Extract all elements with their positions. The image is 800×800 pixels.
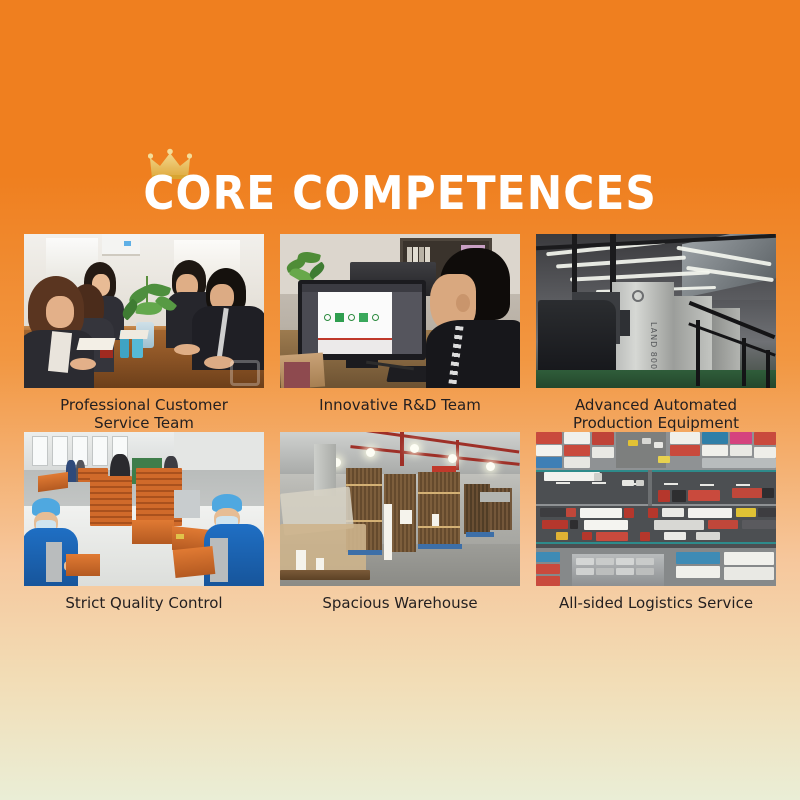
- card-caption: All-sided Logistics Service: [536, 586, 776, 630]
- caption-line-1: Strict Quality Control: [65, 594, 222, 612]
- watermark-icon: [230, 360, 260, 386]
- competence-card-spacious-warehouse[interactable]: Spacious Warehouse: [280, 432, 520, 630]
- card-caption: Spacious Warehouse: [280, 586, 520, 630]
- page-title: CORE COMPETENCES: [143, 152, 657, 216]
- caption-line-1: Professional Customer: [60, 396, 228, 414]
- caption-line-1: Innovative R&D Team: [319, 396, 481, 414]
- aerial-container-port-photo: [536, 432, 776, 586]
- card-caption: Advanced Automated Production Equipment: [536, 388, 776, 432]
- caption-line-1: All-sided Logistics Service: [559, 594, 753, 612]
- competence-card-professional-customer-service-team[interactable]: Professional Customer Service Team: [24, 234, 264, 432]
- competence-card-all-sided-logistics-service[interactable]: All-sided Logistics Service: [536, 432, 776, 630]
- competences-grid: Professional Customer Service Team: [24, 234, 776, 630]
- page-header: CORE COMPETENCES: [0, 152, 800, 216]
- caption-line-2: Service Team: [94, 414, 194, 432]
- competence-card-strict-quality-control[interactable]: Strict Quality Control: [24, 432, 264, 630]
- caption-line-1: Advanced Automated: [575, 396, 737, 414]
- competence-card-advanced-automated-production-equipment[interactable]: LAND 800 Advanced Automated Production E…: [536, 234, 776, 432]
- caption-line-2: Production Equipment: [573, 414, 739, 432]
- caption-line-1: Spacious Warehouse: [322, 594, 477, 612]
- card-caption: Professional Customer Service Team: [24, 388, 264, 432]
- card-caption: Strict Quality Control: [24, 586, 264, 630]
- card-caption: Innovative R&D Team: [280, 388, 520, 432]
- warehouse-pallets-photo: [280, 432, 520, 586]
- printing-press-machinery-photo: LAND 800: [536, 234, 776, 388]
- meeting-room-photo: [24, 234, 264, 388]
- competence-card-innovative-rd-team[interactable]: Innovative R&D Team: [280, 234, 520, 432]
- designer-at-monitor-photo: [280, 234, 520, 388]
- quality-inspection-workers-photo: [24, 432, 264, 586]
